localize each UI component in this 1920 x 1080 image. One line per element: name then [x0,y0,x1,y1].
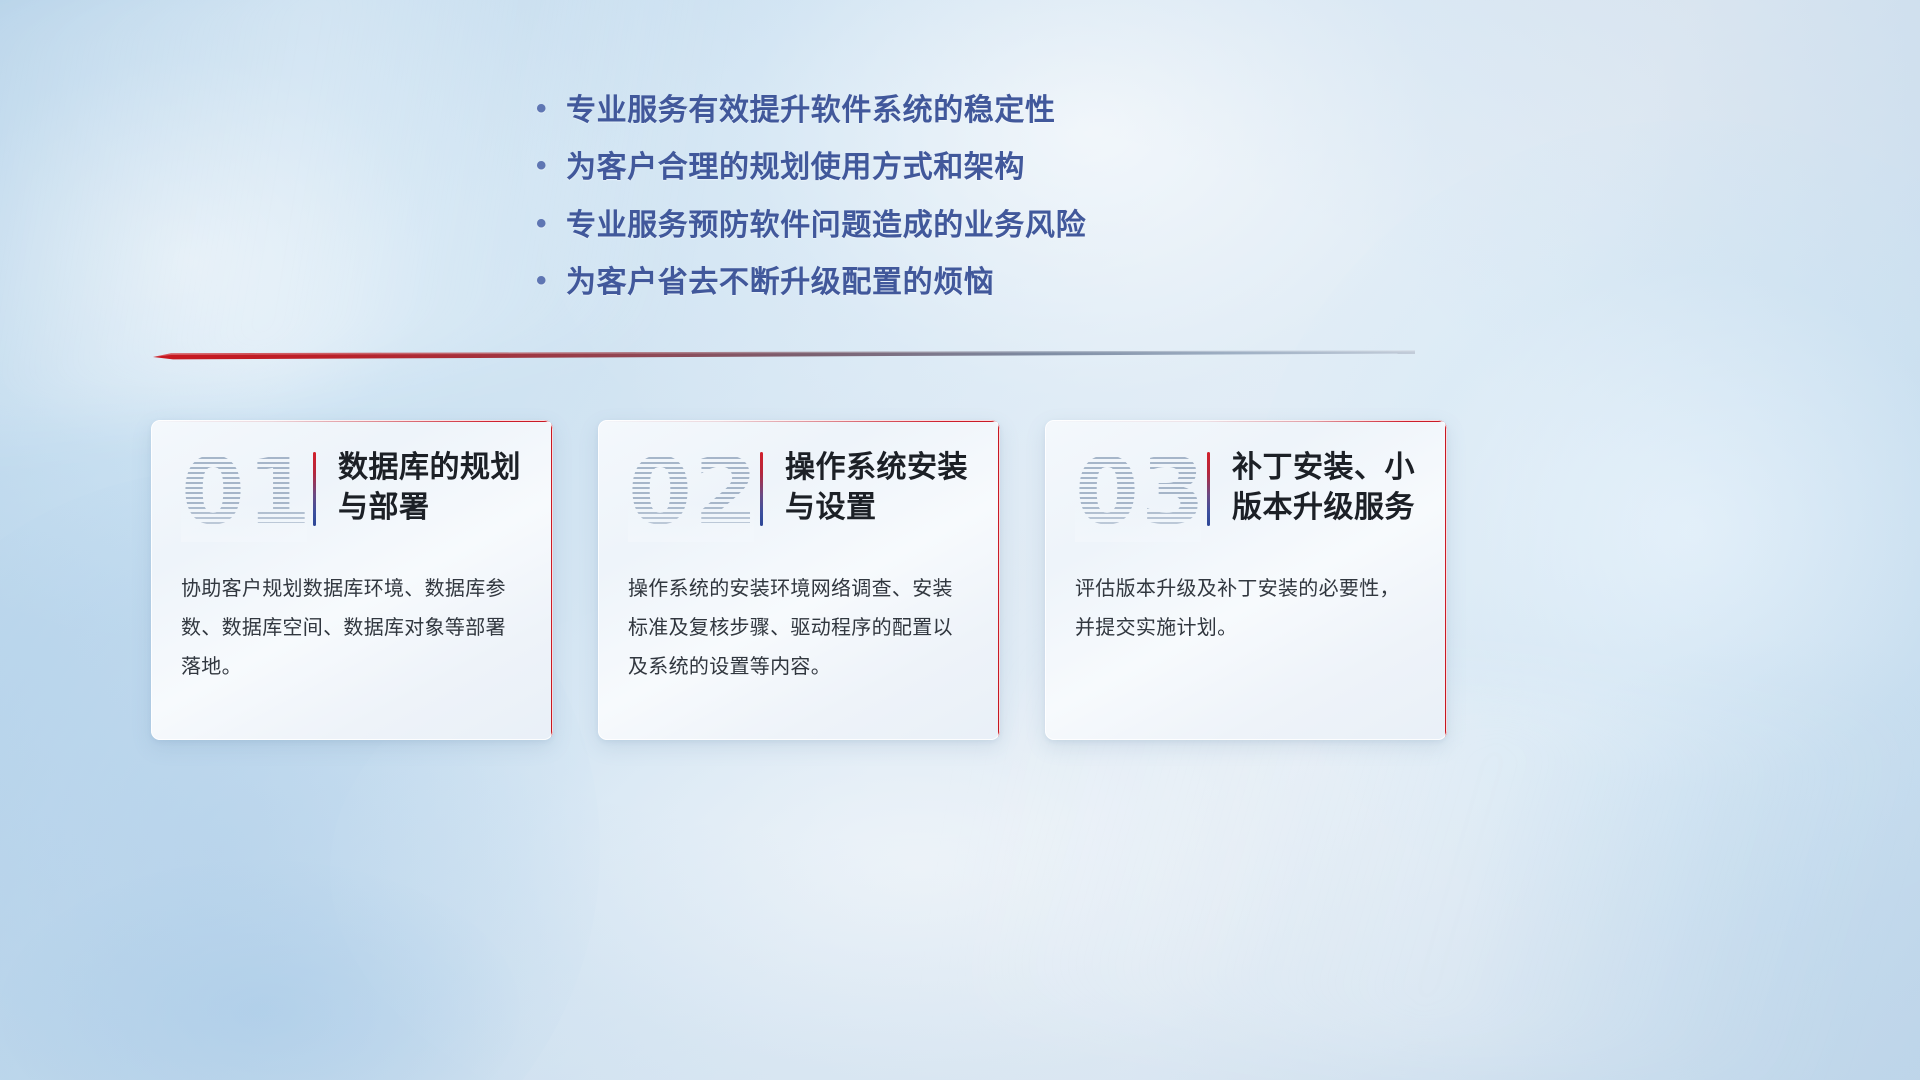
bullet-dot-icon: • [536,151,566,181]
section-divider [153,350,1415,364]
list-item: • 为客户合理的规划使用方式和架构 [536,149,1256,187]
card-description: 协助客户规划数据库环境、数据库参数、数据库空间、数据库对象等部署落地。 [151,560,553,687]
card-number-watermark: 02 [628,442,754,542]
service-card-03[interactable]: 03 补丁安装、小 版本升级服务 评估版本升级及补丁安装的必要性，并提交实施计划… [1045,420,1447,740]
card-number-watermark: 01 [181,442,307,542]
bullet-dot-icon: • [536,94,566,124]
card-description: 操作系统的安装环境网络调查、安装标准及复核步骤、驱动程序的配置以及系统的设置等内… [598,560,1000,687]
card-description: 评估版本升级及补丁安装的必要性，并提交实施计划。 [1045,560,1447,648]
list-item: • 专业服务预防软件问题造成的业务风险 [536,207,1256,245]
card-divider-bar [760,452,763,526]
list-item: • 为客户省去不断升级配置的烦恼 [536,264,1256,302]
list-item-label: 为客户合理的规划使用方式和架构 [566,149,1025,187]
card-title: 补丁安装、小 版本升级服务 [1232,442,1415,527]
service-card-02[interactable]: 02 操作系统安装 与设置 操作系统的安装环境网络调查、安装标准及复核步骤、驱动… [598,420,1000,740]
service-card-row: 01 数据库的规划 与部署 协助客户规划数据库环境、数据库参数、数据库空间、数据… [151,420,1771,740]
card-number-watermark: 03 [1075,442,1201,542]
card-header: 01 数据库的规划 与部署 [151,420,553,560]
card-header: 02 操作系统安装 与设置 [598,420,1000,560]
card-header: 03 补丁安装、小 版本升级服务 [1045,420,1447,560]
card-divider-bar [1207,452,1210,526]
list-item-label: 专业服务有效提升软件系统的稳定性 [566,92,1056,130]
list-item-label: 专业服务预防软件问题造成的业务风险 [566,207,1086,245]
card-title: 数据库的规划 与部署 [338,442,521,527]
benefits-bullet-list: • 专业服务有效提升软件系统的稳定性 • 为客户合理的规划使用方式和架构 • 专… [536,92,1256,322]
card-divider-bar [313,452,316,526]
card-title: 操作系统安装 与设置 [785,442,968,527]
bullet-dot-icon: • [536,209,566,239]
list-item-label: 为客户省去不断升级配置的烦恼 [566,264,994,302]
service-card-01[interactable]: 01 数据库的规划 与部署 协助客户规划数据库环境、数据库参数、数据库空间、数据… [151,420,553,740]
list-item: • 专业服务有效提升软件系统的稳定性 [536,92,1256,130]
slide-canvas: • 专业服务有效提升软件系统的稳定性 • 为客户合理的规划使用方式和架构 • 专… [0,0,1920,1080]
bullet-dot-icon: • [536,266,566,296]
